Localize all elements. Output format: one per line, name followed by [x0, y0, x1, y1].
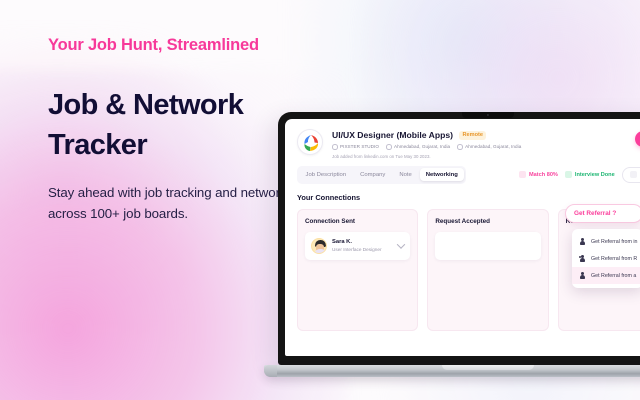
check-icon: [565, 171, 572, 178]
column-connection-sent: Connection Sent Sara K. User Interface D…: [297, 209, 418, 331]
tab-list: Job Description Company Note Networking: [297, 166, 466, 184]
pin-icon: [386, 144, 392, 150]
connections-section-title: Your Connections: [285, 184, 640, 202]
referral-menu: Get Referral from in Get Referral from R…: [572, 229, 640, 288]
hero-eyebrow: Your Job Hunt, Streamlined: [48, 36, 310, 56]
column-title: Request Accepted: [435, 218, 540, 225]
globe-icon: [457, 144, 463, 150]
connection-role: User Interface Designer: [332, 247, 393, 252]
tab-company[interactable]: Company: [354, 168, 391, 181]
page-title: Job & Network Tracker: [48, 85, 310, 165]
job-title: UI/UX Designer (Mobile Apps): [332, 130, 453, 140]
get-referral-button[interactable]: Get Referral ?: [565, 204, 640, 223]
tab-networking[interactable]: Networking: [420, 168, 464, 181]
referral-menu-item-2[interactable]: Get Referral from R: [572, 250, 640, 267]
paperclip-icon: [630, 171, 637, 178]
referral-menu-item-1[interactable]: Get Referral from in: [572, 233, 640, 250]
job-meta-row: PIXSTER STUDIO Ahmedabad, Gujarat, India…: [332, 144, 629, 150]
referral-item-label: Get Referral from in: [591, 239, 638, 245]
remote-badge: Remote: [459, 131, 487, 140]
connection-card-empty[interactable]: [435, 232, 540, 260]
referral-item-label: Get Referral from R: [591, 256, 637, 262]
laptop-camera-notch: [462, 112, 514, 118]
referral-item-label: Get Referral from a: [591, 273, 636, 279]
connection-name: Sara K.: [332, 239, 393, 245]
hero-subcopy: Stay ahead with job tracking and network…: [48, 183, 310, 224]
location-primary: Ahmedabad, Gujarat, India: [394, 144, 450, 149]
match-status-badge[interactable]: Match 80%: [519, 171, 558, 178]
job-meta: UI/UX Designer (Mobile Apps) Remote PIXS…: [332, 129, 629, 159]
location-meta-primary: Ahmedabad, Gujarat, India: [386, 144, 450, 150]
referral-menu-item-3[interactable]: Get Referral from a: [572, 267, 640, 284]
match-icon: [519, 171, 526, 178]
interview-status-badge[interactable]: Interview Done: [565, 171, 615, 178]
person-icon: [579, 272, 586, 279]
match-label: Match 80%: [529, 172, 558, 178]
avatar: [311, 238, 327, 254]
connection-card[interactable]: Sara K. User Interface Designer: [305, 232, 410, 260]
laptop-foot: [264, 365, 277, 377]
tabs-bar: Job Description Company Note Networking …: [285, 159, 640, 184]
job-title-row: UI/UX Designer (Mobile Apps) Remote: [332, 130, 629, 140]
tab-note[interactable]: Note: [393, 168, 417, 181]
group-icon: [579, 255, 586, 262]
apply-job-button[interactable]: Apply Job: [635, 131, 640, 147]
company-meta: PIXSTER STUDIO: [332, 144, 379, 150]
company-name: PIXSTER STUDIO: [340, 144, 379, 149]
person-icon: [579, 238, 586, 245]
connection-info: Sara K. User Interface Designer: [332, 239, 393, 252]
location-secondary: Ahmedabad, Gujarat, India: [465, 144, 521, 149]
interview-label: Interview Done: [575, 172, 615, 178]
company-logo-icon: [297, 129, 323, 155]
location-meta-secondary: Ahmedabad, Gujarat, India: [457, 144, 521, 150]
job-source-line: Job added from linkedin.com on Tue May 3…: [332, 154, 629, 159]
column-title: Connection Sent: [305, 218, 410, 225]
status-group: Match 80% Interview Done Attachment: [519, 167, 640, 183]
laptop-base: [264, 365, 640, 377]
chevron-down-icon[interactable]: [397, 240, 405, 248]
attachment-button[interactable]: Attachment: [622, 167, 640, 183]
building-icon: [332, 144, 338, 150]
tab-job-description[interactable]: Job Description: [300, 168, 353, 181]
referral-popover: Get Referral ? Get Referral from in Get …: [565, 204, 640, 288]
column-request-accepted: Request Accepted: [427, 209, 548, 331]
hero-copy: Your Job Hunt, Streamlined Job & Network…: [48, 36, 310, 224]
app-header: UI/UX Designer (Mobile Apps) Remote PIXS…: [285, 119, 640, 159]
laptop-base-notch: [442, 365, 534, 370]
